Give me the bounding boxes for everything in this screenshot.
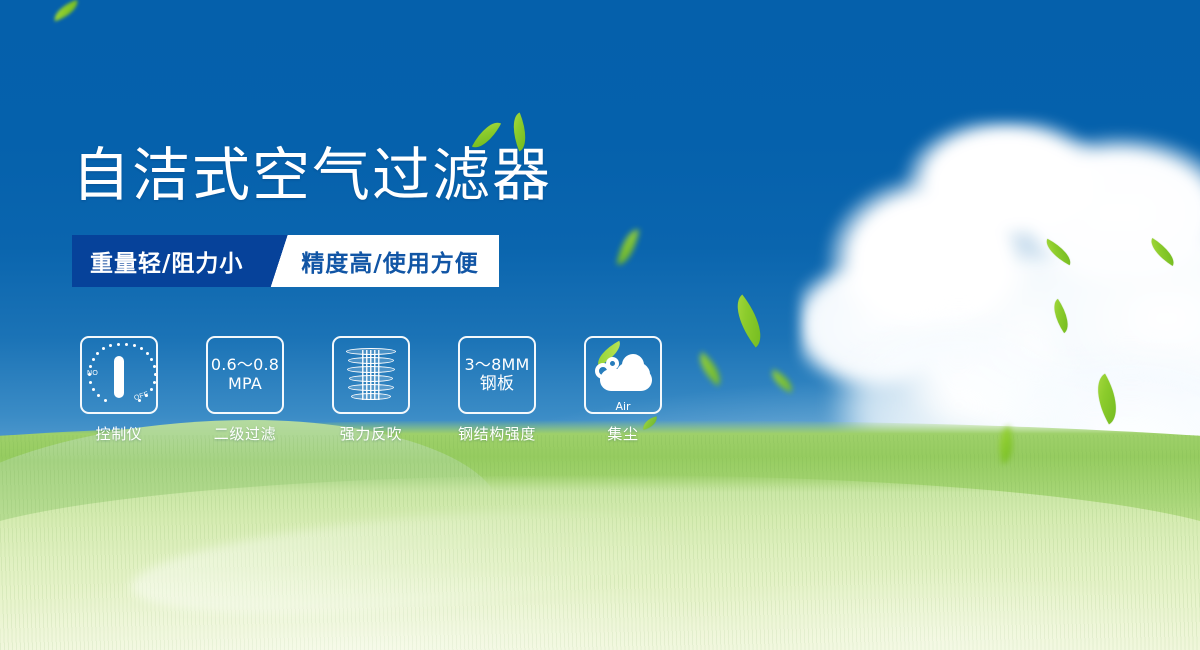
feature-icon-box: 3～8MM 钢板 <box>458 336 536 414</box>
pressure-unit: MPA <box>228 375 262 394</box>
subtitle-right: 精度高/使用方便 <box>295 235 498 287</box>
feature-label: 控制仪 <box>96 423 143 444</box>
steel-material: 钢板 <box>480 374 514 394</box>
subtitle-divider <box>265 235 295 287</box>
feature-icon-box: NO OFF <box>80 336 158 414</box>
feature-item-steel-strength[interactable]: 3～8MM 钢板 钢结构强度 <box>458 336 536 444</box>
feature-item-dust-collection[interactable]: Air 集尘 <box>584 336 662 444</box>
page-title: 自洁式空气过滤器 <box>72 146 552 204</box>
feature-item-two-stage-filter[interactable]: 0.6～0.8 MPA 二级过滤 <box>206 336 284 444</box>
feature-list: NO OFF <box>80 336 662 444</box>
feature-label: 二级过滤 <box>214 423 276 444</box>
pressure-range: 0.6～0.8 <box>211 356 279 375</box>
steel-thickness: 3～8MM <box>465 356 530 375</box>
subtitle-bar: 重量轻/阻力小 精度高/使用方便 <box>72 235 499 287</box>
subtitle-left: 重量轻/阻力小 <box>72 235 265 287</box>
feature-label: 强力反吹 <box>340 423 402 444</box>
feature-icon-box <box>332 336 410 414</box>
feature-label: 钢结构强度 <box>458 423 536 444</box>
filter-stack-icon <box>343 346 399 404</box>
feature-icon-box: 0.6～0.8 MPA <box>206 336 284 414</box>
feature-icon-box: Air <box>584 336 662 414</box>
air-cloud-icon: Air <box>592 349 654 401</box>
cloud-ring-tiny <box>606 357 619 370</box>
gauge-needle <box>114 356 124 398</box>
feature-label: 集尘 <box>607 423 638 444</box>
feature-item-controller[interactable]: NO OFF <box>80 336 158 444</box>
air-label: Air <box>592 400 654 413</box>
hero-banner: 自洁式空气过滤器 重量轻/阻力小 精度高/使用方便 NO OFF <box>0 0 1200 650</box>
feature-item-strong-backflush[interactable]: 强力反吹 <box>332 336 410 444</box>
gauge-icon: NO OFF <box>86 342 152 408</box>
